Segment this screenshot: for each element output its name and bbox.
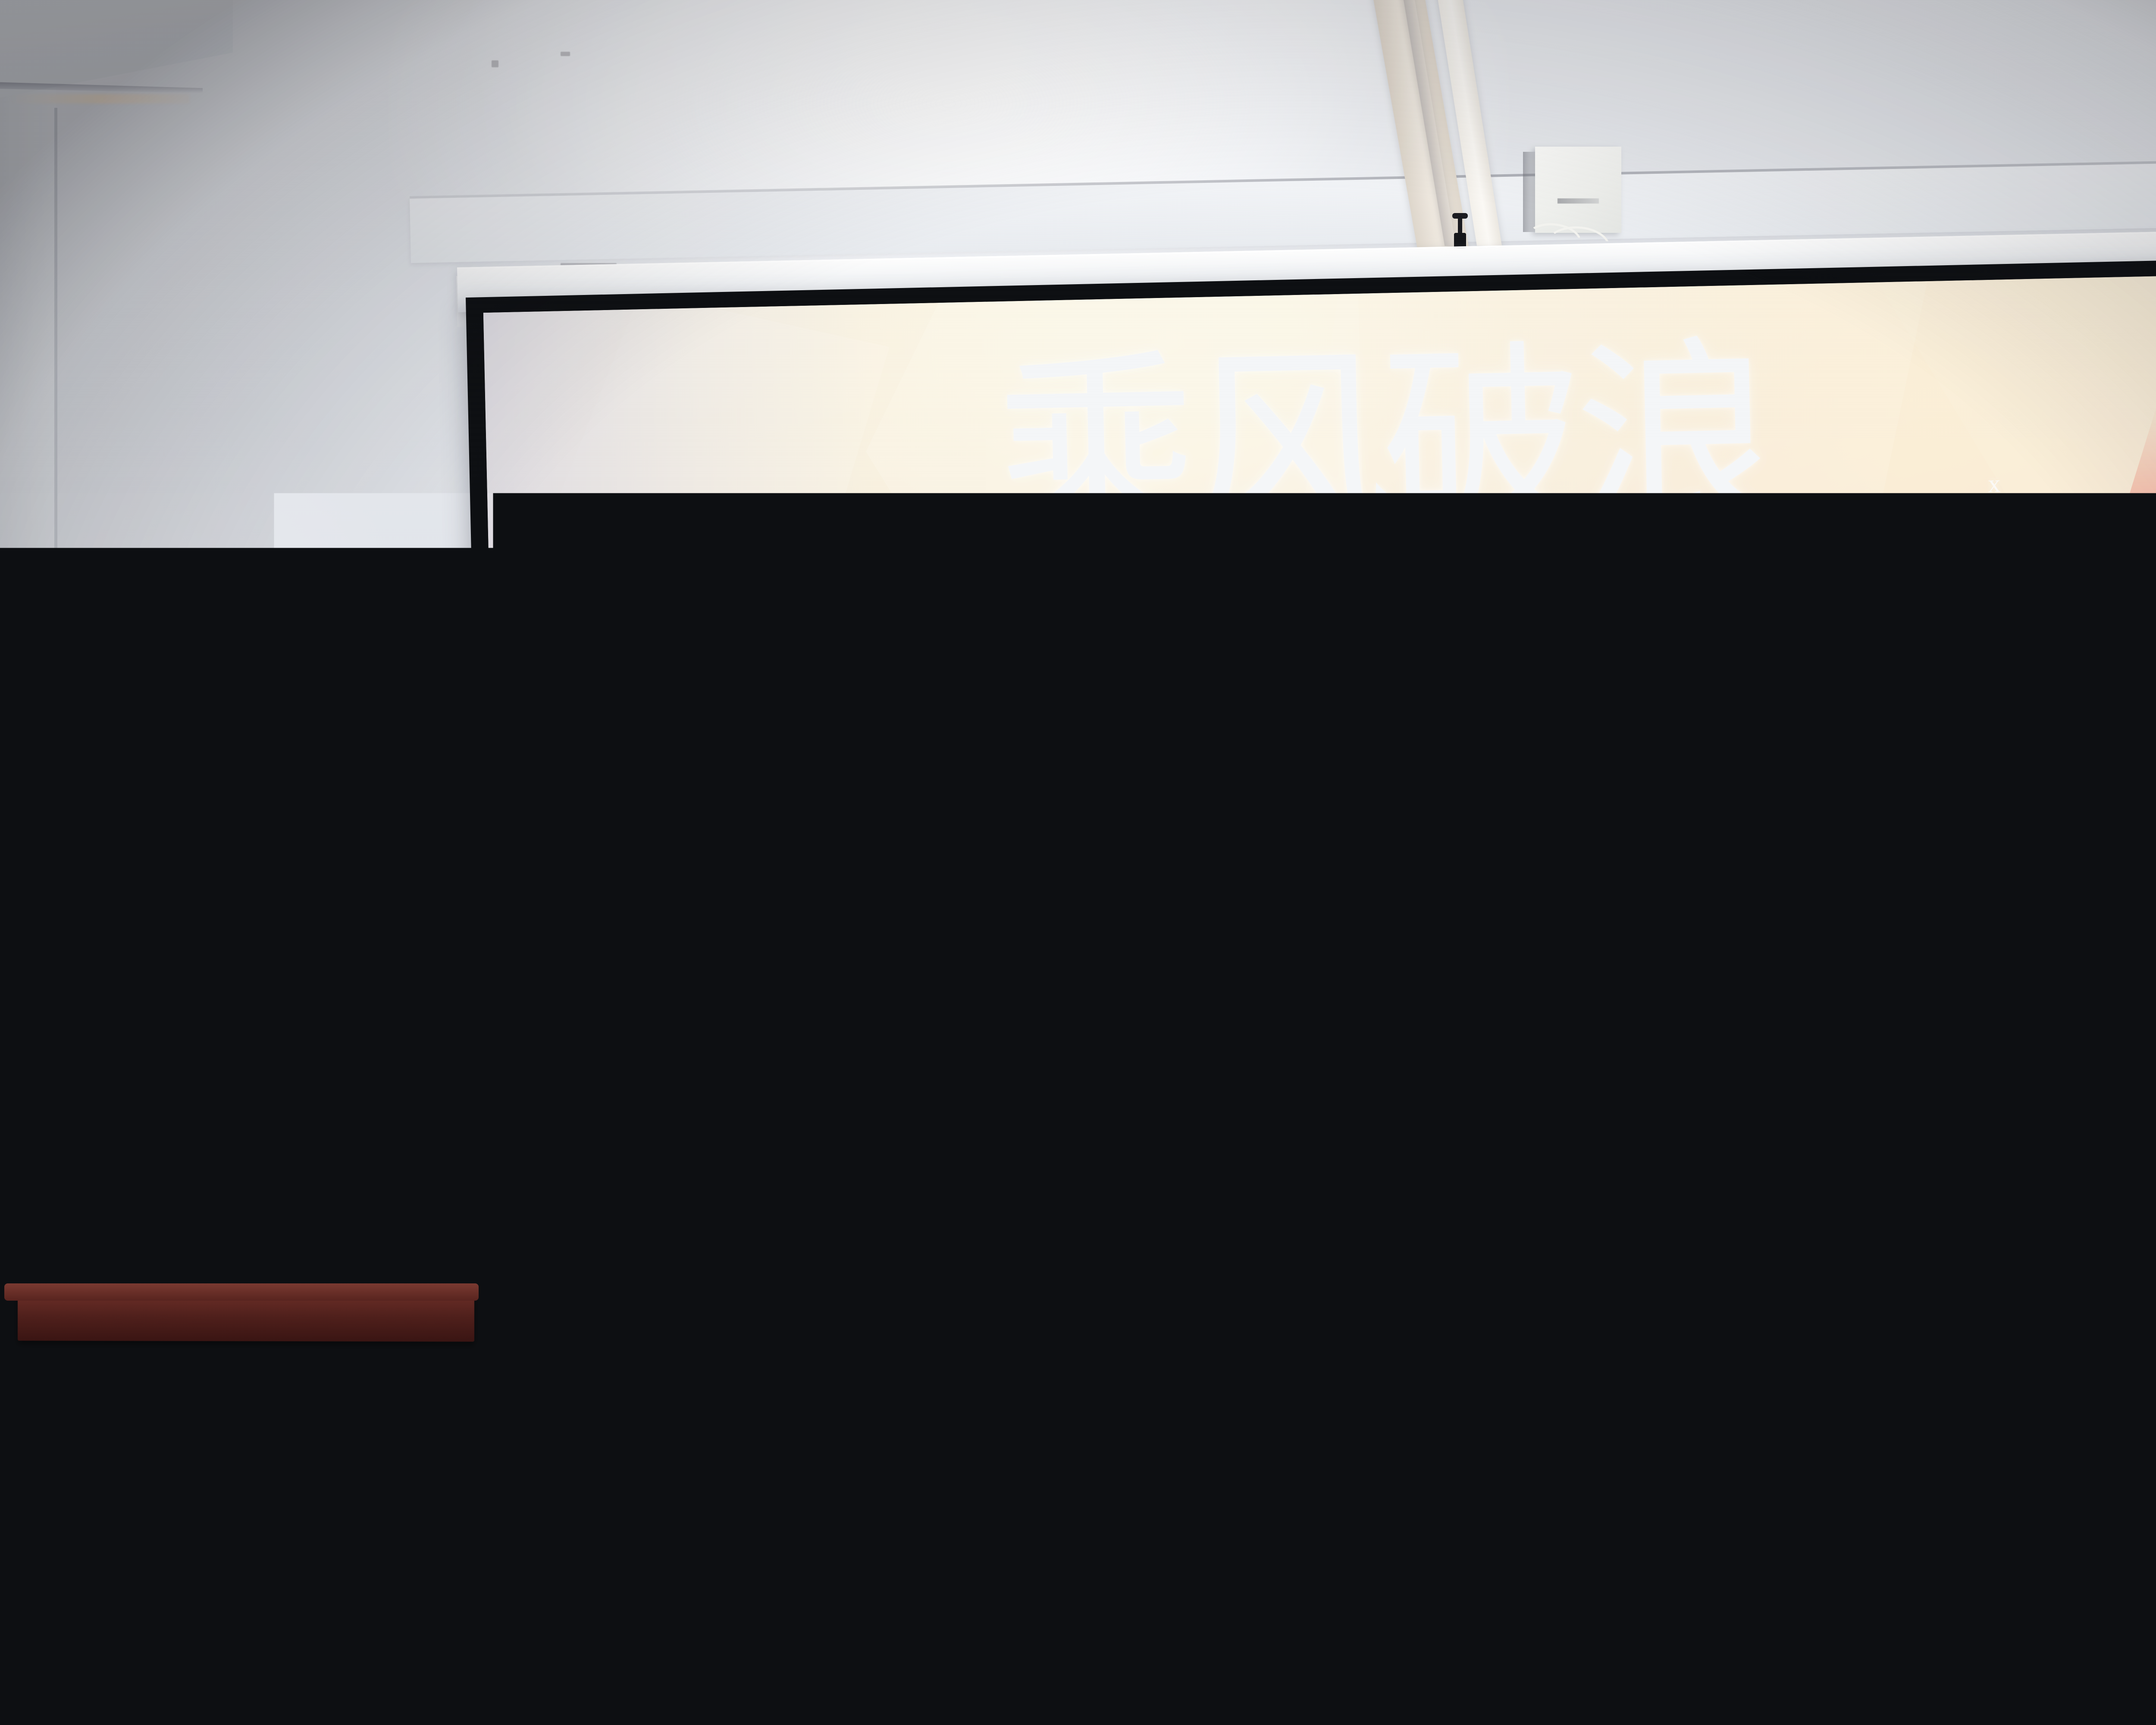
screen-surface[interactable]: 乘风破浪 共征寰宇 xx 团委办公室工作总结报告 汇报人：扈雨涵 <box>483 269 2156 1408</box>
projection-screen[interactable]: 乘风破浪 共征寰宇 xx 团委办公室工作总结报告 汇报人：扈雨涵 <box>466 253 2156 1458</box>
slide-title-line-2: 共征寰宇 <box>1006 505 1783 724</box>
slide-title-block: 乘风破浪 共征寰宇 xx <box>976 331 2023 931</box>
mouth <box>138 1165 155 1172</box>
ring <box>147 1233 156 1238</box>
wall-device-led <box>0 790 5 794</box>
soffit-warm-light <box>9 94 190 103</box>
podium-mic-holder[interactable] <box>418 1287 442 1320</box>
slide-title-decoration-marks: xx <box>1988 469 2002 527</box>
wall-mounted-box <box>1535 147 1621 233</box>
slide-subtitle: 团委办公室工作总结报告 <box>995 916 1902 1012</box>
wall-device[interactable] <box>0 748 60 800</box>
slide-presenter-line: 汇报人：扈雨涵 <box>1232 1034 1837 1097</box>
podium-gold-capital <box>47 1340 73 1374</box>
wall-mark <box>492 60 498 67</box>
wall-device-slot <box>1 775 27 782</box>
slide-text-layer: 乘风破浪 共征寰宇 xx 团委办公室工作总结报告 汇报人：扈雨涵 <box>483 269 2156 1408</box>
auditorium-scene: 乘风破浪 共征寰宇 xx 团委办公室工作总结报告 汇报人：扈雨涵 <box>0 0 2156 1725</box>
wall-device-slot <box>1 788 34 793</box>
podium-desktop-lip <box>4 1283 479 1301</box>
sensor-stem <box>1458 216 1462 234</box>
speaker <box>30 1044 306 1320</box>
wall-mark <box>561 52 570 56</box>
wall-box-logo <box>1557 198 1599 204</box>
eye <box>119 1136 134 1140</box>
eye <box>156 1136 171 1140</box>
podium-gold-capital <box>398 1340 424 1374</box>
